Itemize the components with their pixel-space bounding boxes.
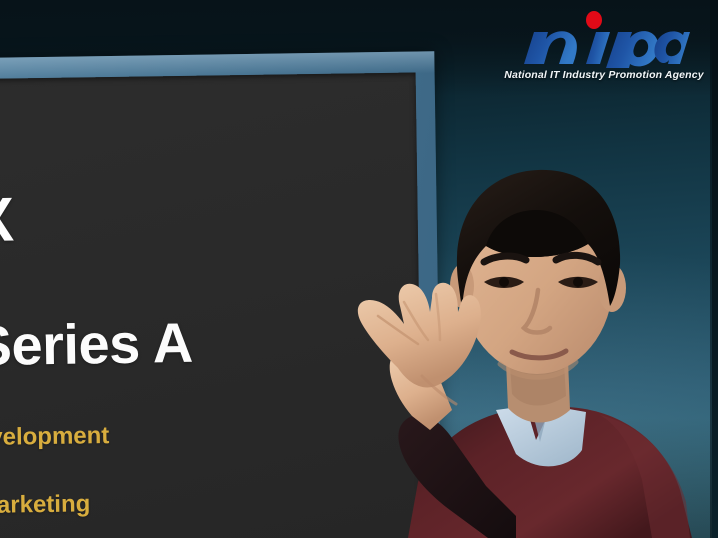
slide-heading: X	[0, 184, 14, 256]
slide-bullet-item: Marketing	[0, 487, 111, 523]
slide-bullet-item: g	[0, 453, 110, 489]
presenter	[300, 110, 718, 538]
video-frame: X Series A evelopment g Marketing	[0, 0, 718, 538]
slide-subheading: Series A	[0, 310, 193, 378]
slide-bullet-list: evelopment g Marketing	[0, 419, 111, 523]
presenter-head	[450, 170, 626, 377]
nipa-wordmark-icon	[504, 10, 704, 68]
nipa-logo: National IT Industry Promotion Agency	[504, 10, 704, 81]
nipa-logo-subtitle: National IT Industry Promotion Agency	[504, 69, 704, 81]
right-edge-strip	[712, 0, 718, 538]
slide-bullet-item: evelopment	[0, 419, 110, 455]
